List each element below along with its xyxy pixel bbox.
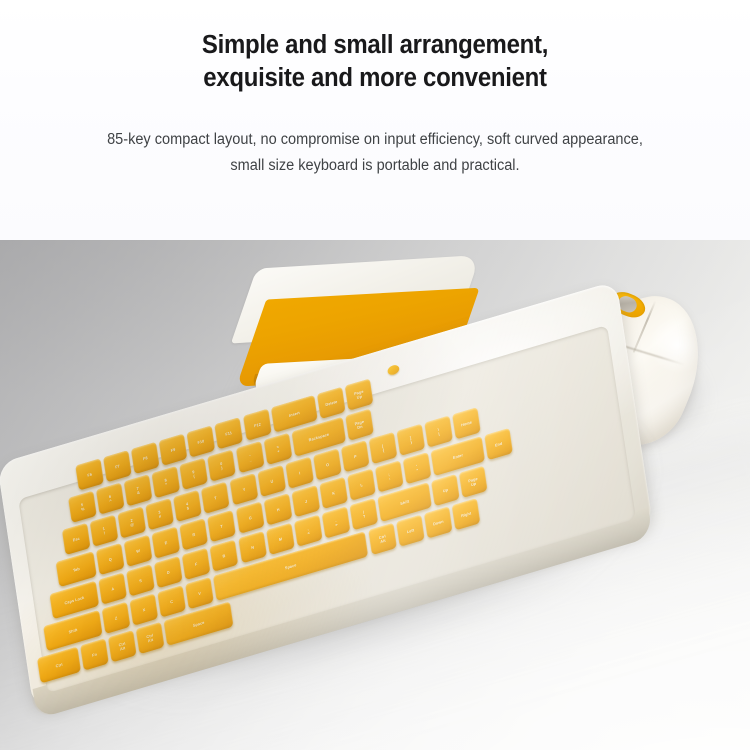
keycap-legend: Backspace	[297, 428, 341, 445]
keycap[interactable]: F10	[187, 425, 216, 457]
keycap-legend: Ctrl Alt	[371, 531, 394, 546]
keycap[interactable]: M	[266, 523, 295, 555]
keycap-legend: Ctrl Alt	[139, 630, 162, 645]
keycap-legend: D	[158, 567, 180, 578]
keycap-legend: T	[205, 492, 227, 503]
keycap-legend: B	[213, 550, 235, 561]
keycap[interactable]: Down	[424, 506, 453, 538]
keycap[interactable]: F12	[243, 409, 272, 441]
keycap-legend: ' "	[406, 461, 429, 476]
keycap-legend: 7 &	[127, 483, 150, 498]
keycap-legend: F12	[246, 420, 268, 431]
keycap[interactable]: S	[126, 564, 155, 596]
keycap[interactable]: Y	[229, 473, 258, 505]
keycap[interactable]: X	[130, 593, 159, 625]
keycap-legend: W	[127, 545, 149, 556]
headline-line-1: Simple and small arrangement,	[23, 29, 728, 62]
subhead-line-1: 85-key compact layout, no compromise on …	[19, 127, 732, 153]
keycap[interactable]: 7 &	[124, 474, 153, 506]
page-title: Simple and small arrangement, exquisite …	[23, 29, 728, 95]
keycap-legend: 3 #	[149, 506, 172, 521]
keycap-legend: F10	[190, 436, 212, 447]
keycap[interactable]: End	[485, 428, 514, 460]
keycap[interactable]: 3 #	[146, 498, 175, 530]
product-photo: F6F7F8F9F10F11F12InsertDeletePage Up 5 %…	[0, 240, 750, 750]
keycap[interactable]: Right	[452, 498, 481, 530]
keycap[interactable]: N	[238, 531, 267, 563]
product-banner-page: Simple and small arrangement, exquisite …	[0, 0, 750, 750]
keycap-legend: O	[316, 459, 338, 470]
keycap[interactable]: A	[98, 572, 127, 604]
keycap[interactable]: Left	[396, 515, 425, 547]
keycap-legend: M	[269, 534, 291, 545]
keycap-legend: S	[130, 575, 152, 586]
keycap-legend: R	[183, 529, 205, 540]
keycap-legend: ] }	[400, 432, 423, 447]
keycap[interactable]: . >	[322, 506, 351, 538]
keycap-legend: Shift	[383, 494, 427, 511]
keycap-legend: Shift	[49, 621, 97, 640]
keycap-legend: [ {	[372, 440, 395, 455]
keycap[interactable]: Ctrl Alt	[108, 630, 137, 662]
keycap-legend: Space	[170, 613, 227, 634]
keycap-legend: Ctrl Alt	[111, 639, 134, 654]
keycap[interactable]: F11	[215, 417, 244, 449]
keycap[interactable]: 4 $	[174, 490, 203, 522]
keycap-legend: Right	[455, 509, 477, 520]
keycap-legend: , <	[297, 523, 320, 538]
keycap-legend: Insert	[275, 406, 312, 421]
keycap-legend: Z	[105, 612, 127, 623]
keycap-legend: Home	[456, 418, 478, 429]
keycap-legend: J	[295, 496, 317, 507]
keycap-legend: Q	[99, 554, 121, 565]
keycap-legend: F9	[162, 444, 184, 455]
keycap-legend: F6	[79, 469, 101, 480]
keycap-legend: A	[102, 583, 124, 594]
keycap-legend: 6 ^	[99, 491, 122, 506]
keycap[interactable]: ] }	[397, 424, 426, 456]
keycap[interactable]: 9 (	[180, 458, 209, 490]
keycap-legend: 8 *	[155, 474, 178, 489]
keycap[interactable]: J	[291, 485, 320, 517]
keycap[interactable]: Q	[96, 543, 125, 575]
keycap-legend: Fn	[84, 649, 106, 660]
keycap-legend: Ctrl	[42, 658, 77, 673]
keycap[interactable]: Delete	[317, 387, 346, 419]
keycap[interactable]: D	[154, 556, 183, 588]
keycap-legend: = +	[266, 441, 289, 456]
keycap[interactable]: Fn	[80, 638, 109, 670]
keycap-legend: Up	[435, 485, 457, 496]
keycap[interactable]: Page Up	[345, 379, 374, 411]
keycap-legend: Left	[399, 525, 421, 536]
keycap[interactable]: P	[341, 440, 370, 472]
keycap-legend: U	[261, 476, 283, 487]
keycap-legend: Caps Lock	[54, 592, 94, 608]
keycap[interactable]: Ctrl Alt	[136, 622, 165, 654]
keycap-legend: P	[344, 451, 366, 462]
headline-line-2: exquisite and more convenient	[23, 62, 728, 95]
keycap-legend: F8	[135, 453, 157, 464]
keycap[interactable]: Esc	[62, 523, 91, 555]
keycap[interactable]: K	[319, 477, 348, 509]
keycap[interactable]: ' "	[403, 452, 432, 484]
keycap-legend: C	[161, 596, 183, 607]
keycap[interactable]: Home	[452, 407, 481, 439]
keycap[interactable]: Up	[431, 474, 460, 506]
keycap-legend: / ?	[353, 507, 376, 522]
keycap-legend: Tab	[60, 562, 92, 576]
keycap-legend: 5 %	[71, 499, 94, 514]
keycap-legend: Page Dn	[348, 417, 371, 432]
keycap-legend: 9 (	[183, 466, 206, 481]
keycap[interactable]: T	[208, 510, 237, 542]
keycap[interactable]: = +	[263, 433, 292, 465]
keycap[interactable]: Ctrl Alt	[368, 523, 397, 555]
keycap-legend: F	[186, 558, 208, 569]
keycap-legend: X	[133, 604, 155, 615]
keycap-legend: I	[288, 467, 310, 478]
keycap[interactable]: F7	[103, 450, 132, 482]
keycap[interactable]: V	[186, 577, 215, 609]
keycap-legend: Page Up	[462, 474, 485, 489]
keycap[interactable]: H	[263, 493, 292, 525]
keycap-legend: 2 @	[121, 515, 144, 530]
keycap[interactable]: 1 !	[90, 515, 119, 547]
keycap[interactable]: \ |	[425, 415, 454, 447]
keycap[interactable]: F9	[159, 434, 188, 466]
keycap[interactable]: F8	[131, 442, 160, 474]
keycap[interactable]: 2 @	[118, 506, 147, 538]
keycap-legend: V	[189, 588, 211, 599]
keycap[interactable]: - _	[236, 441, 265, 473]
keycap-legend: F11	[218, 428, 240, 439]
keycap[interactable]: ; :	[375, 460, 404, 492]
page-subtitle: 85-key compact layout, no compromise on …	[19, 127, 732, 179]
keycap[interactable]: , <	[294, 515, 323, 547]
keycap-legend: - _	[239, 450, 262, 465]
keycap[interactable]: T	[201, 482, 230, 514]
keycap[interactable]: I	[285, 457, 314, 489]
keycap-legend: E	[155, 537, 177, 548]
keycap-legend: H	[267, 504, 289, 515]
keycap[interactable]: Page Up	[459, 466, 488, 498]
keycap[interactable]: / ?	[350, 498, 379, 530]
keycap-legend: \ |	[428, 424, 451, 439]
keycap[interactable]: E	[152, 526, 181, 558]
keycap-legend: 1 !	[93, 523, 116, 538]
keycap[interactable]: [ {	[369, 432, 398, 464]
keycap[interactable]: 0 )	[208, 449, 237, 481]
keycap-legend: K	[323, 488, 345, 499]
keycap[interactable]: R	[180, 518, 209, 550]
keycap-legend: G	[239, 512, 261, 523]
keycap-legend: . >	[325, 515, 348, 530]
keycap-legend: T	[211, 521, 233, 532]
keycap-legend: 0 )	[211, 458, 234, 473]
text-banner: Simple and small arrangement, exquisite …	[0, 0, 750, 240]
keycap[interactable]: 8 *	[152, 466, 181, 498]
keycap[interactable]: U	[257, 465, 286, 497]
keycap-legend: Enter	[436, 447, 480, 464]
keycap-legend: 4 $	[177, 498, 200, 513]
keycap[interactable]: B	[210, 539, 239, 571]
keycap-legend: End	[488, 439, 510, 450]
keycap[interactable]: Z	[102, 602, 131, 634]
keycap[interactable]: F6	[75, 458, 104, 490]
keycap-legend: Esc	[65, 534, 87, 545]
keycap[interactable]: 6 ^	[96, 482, 125, 514]
keycap[interactable]: W	[124, 535, 153, 567]
keycap-legend: Down	[427, 517, 449, 528]
keycap[interactable]: C	[158, 585, 187, 617]
keycap-legend: Y	[233, 484, 255, 495]
keycap-legend: L	[351, 479, 373, 490]
keycap[interactable]: 5 %	[68, 491, 97, 523]
keycap-legend: Delete	[320, 398, 342, 409]
keycap[interactable]: O	[313, 448, 342, 480]
keycap[interactable]: F	[182, 548, 211, 580]
keycap[interactable]: Page Dn	[345, 409, 374, 441]
subhead-line-2: small size keyboard is portable and prac…	[19, 153, 732, 179]
keycap-legend: F7	[107, 461, 129, 472]
keycap[interactable]: L	[347, 469, 376, 501]
keycap-legend: N	[241, 542, 263, 553]
keycap-legend: Page Up	[348, 387, 371, 402]
keycap[interactable]: G	[236, 502, 265, 534]
keycap-legend: ; :	[378, 469, 401, 484]
